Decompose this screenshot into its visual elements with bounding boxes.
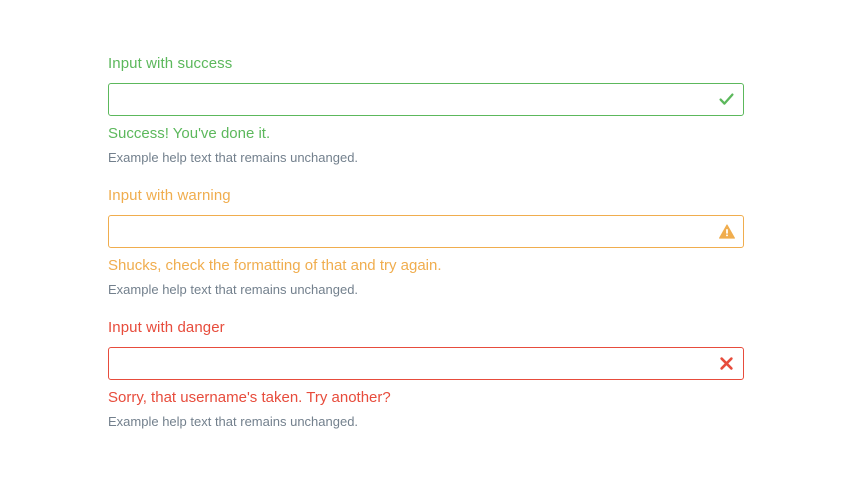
- validation-states-form: Input with success Success! You've done …: [108, 53, 744, 431]
- help-text-danger: Example help text that remains unchanged…: [108, 412, 744, 431]
- form-group-danger: Input with danger Sorry, that username's…: [108, 317, 744, 431]
- label-input-with-danger: Input with danger: [108, 317, 744, 339]
- input-danger[interactable]: [108, 347, 744, 380]
- help-text-success: Example help text that remains unchanged…: [108, 148, 744, 167]
- input-wrap-danger: [108, 347, 744, 380]
- input-wrap-warning: [108, 215, 744, 248]
- label-input-with-warning: Input with warning: [108, 185, 744, 207]
- help-text-warning: Example help text that remains unchanged…: [108, 280, 744, 299]
- feedback-text-danger: Sorry, that username's taken. Try anothe…: [108, 387, 744, 408]
- input-warning[interactable]: [108, 215, 744, 248]
- input-success[interactable]: [108, 83, 744, 116]
- feedback-text-warning: Shucks, check the formatting of that and…: [108, 255, 744, 276]
- label-input-with-success: Input with success: [108, 53, 744, 75]
- form-group-success: Input with success Success! You've done …: [108, 53, 744, 167]
- input-wrap-success: [108, 83, 744, 116]
- page-root: Input with success Success! You've done …: [0, 0, 850, 500]
- feedback-text-success: Success! You've done it.: [108, 123, 744, 144]
- form-group-warning: Input with warning Shucks, check the for…: [108, 185, 744, 299]
